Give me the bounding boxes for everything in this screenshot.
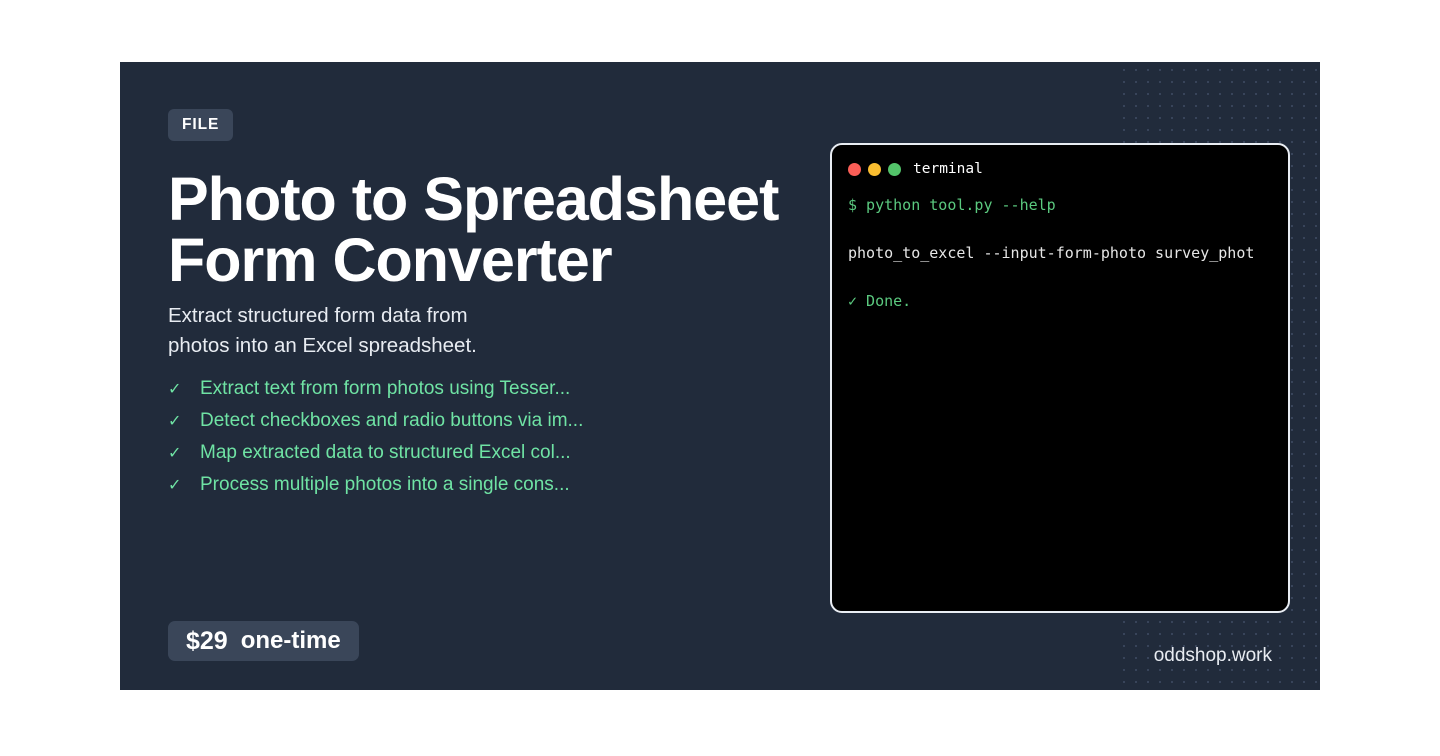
feature-label: Extract text from form photos using Tess… (200, 378, 570, 400)
price-amount: $29 (186, 627, 228, 656)
list-item: ✓ Detect checkboxes and radio buttons vi… (168, 410, 788, 442)
close-icon[interactable] (848, 163, 861, 176)
check-icon: ✓ (168, 475, 200, 495)
maximize-icon[interactable] (888, 163, 901, 176)
terminal-line-output: photo_to_excel --input-form-photo survey… (848, 246, 1272, 294)
check-icon: ✓ (168, 443, 200, 463)
page-subtitle: Extract structured form data from photos… (168, 301, 688, 361)
product-card: FILE Photo to Spreadsheet Form Converter… (120, 62, 1320, 690)
page-title: Photo to Spreadsheet Form Converter (168, 169, 868, 291)
terminal-title: terminal (913, 161, 983, 177)
check-icon: ✓ (168, 411, 200, 431)
feature-list: ✓ Extract text from form photos using Te… (168, 378, 788, 506)
card-left-column: FILE Photo to Spreadsheet Form Converter… (168, 62, 888, 690)
price-badge: $29 one-time (168, 621, 359, 661)
site-url: oddshop.work (1154, 645, 1272, 667)
terminal-titlebar: terminal (848, 159, 1272, 179)
list-item: ✓ Extract text from form photos using Te… (168, 378, 788, 410)
terminal-line-command: $ python tool.py --help (848, 198, 1272, 246)
terminal-line-success: ✓ Done. (848, 294, 1272, 342)
file-type-badge: FILE (168, 109, 233, 141)
check-icon: ✓ (168, 379, 200, 399)
feature-label: Process multiple photos into a single co… (200, 474, 570, 496)
terminal-output[interactable]: $ python tool.py --help photo_to_excel -… (848, 198, 1272, 342)
price-period: one-time (241, 627, 341, 655)
minimize-icon[interactable] (868, 163, 881, 176)
terminal-window: terminal $ python tool.py --help photo_t… (830, 143, 1290, 613)
feature-label: Map extracted data to structured Excel c… (200, 442, 571, 464)
list-item: ✓ Process multiple photos into a single … (168, 474, 788, 506)
screenshot-root: FILE Photo to Spreadsheet Form Converter… (0, 0, 1440, 756)
list-item: ✓ Map extracted data to structured Excel… (168, 442, 788, 474)
feature-label: Detect checkboxes and radio buttons via … (200, 410, 583, 432)
